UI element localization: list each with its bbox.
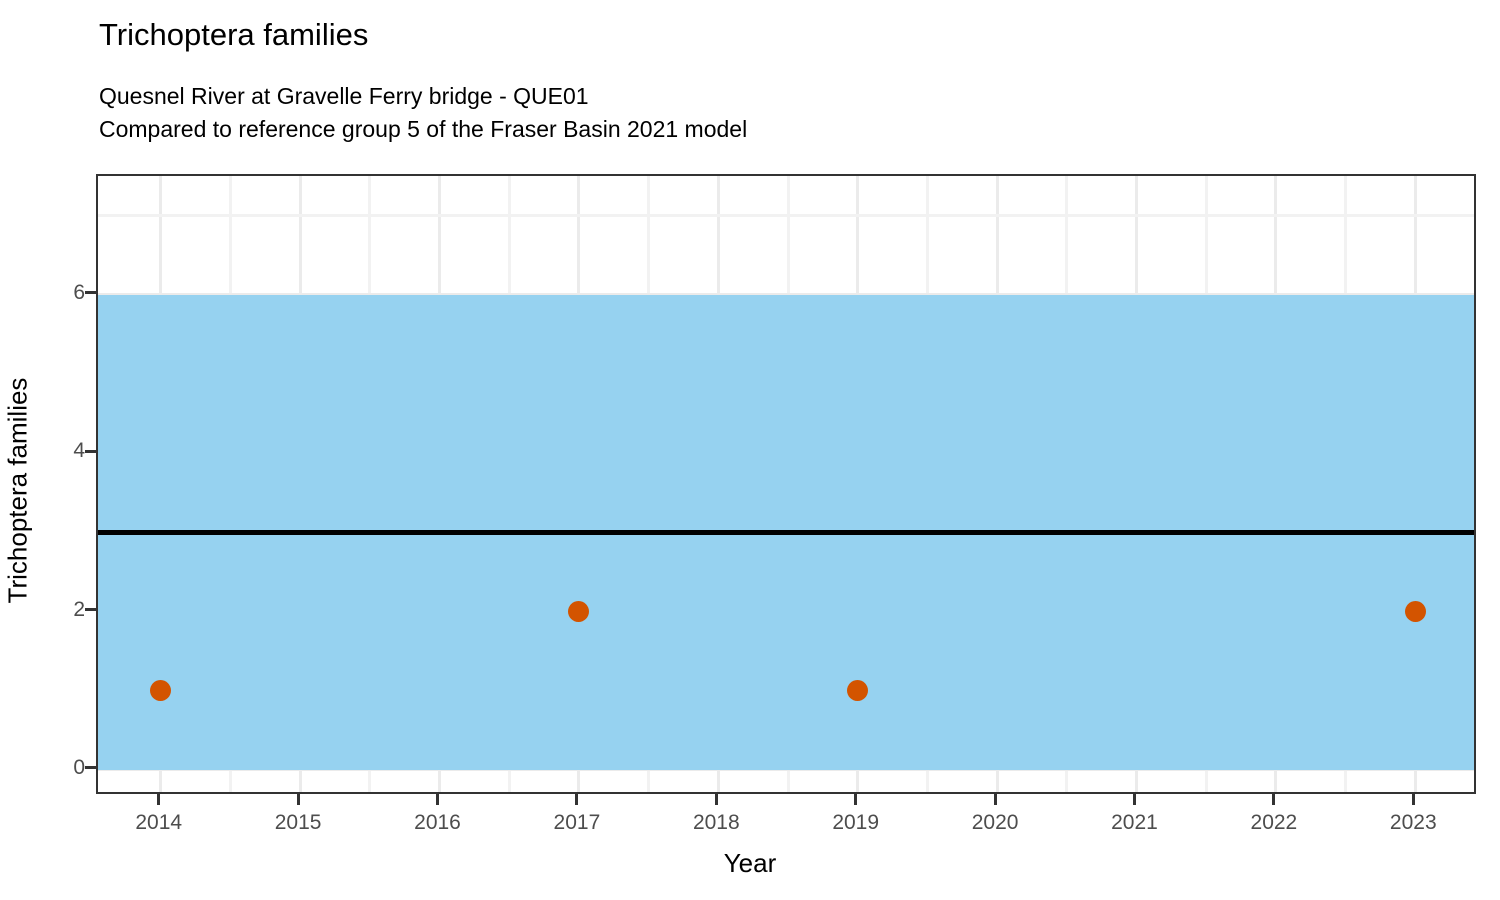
x-tick-mark — [994, 794, 997, 805]
x-tick-label: 2016 — [388, 812, 488, 833]
x-tick-mark — [297, 794, 300, 805]
chart-figure: Trichoptera families Quesnel River at Gr… — [0, 0, 1500, 900]
gridline-horizontal-minor — [98, 214, 1474, 217]
reference-line — [98, 530, 1474, 535]
y-tick-mark — [85, 608, 96, 611]
y-axis-title: Trichoptera families — [3, 181, 34, 801]
y-tick-label: 2 — [45, 599, 85, 620]
x-axis-title: Year — [0, 848, 1500, 879]
x-tick-label: 2023 — [1363, 812, 1463, 833]
x-tick-label: 2015 — [248, 812, 348, 833]
x-tick-mark — [854, 794, 857, 805]
x-tick-mark — [1272, 794, 1275, 805]
data-point[interactable] — [1405, 601, 1426, 622]
y-tick-label: 4 — [45, 440, 85, 461]
x-tick-mark — [575, 794, 578, 805]
plot-area — [98, 176, 1474, 792]
x-tick-label: 2022 — [1224, 812, 1324, 833]
y-tick-label: 0 — [45, 757, 85, 778]
chart-subtitle: Quesnel River at Gravelle Ferry bridge -… — [99, 80, 747, 147]
y-tick-mark — [85, 291, 96, 294]
plot-panel — [96, 174, 1476, 794]
x-tick-mark — [715, 794, 718, 805]
x-tick-label: 2014 — [109, 812, 209, 833]
y-tick-label: 6 — [45, 282, 85, 303]
x-tick-label: 2019 — [806, 812, 906, 833]
page-title: Trichoptera families — [99, 18, 368, 52]
x-tick-mark — [157, 794, 160, 805]
x-tick-mark — [1133, 794, 1136, 805]
x-tick-label: 2020 — [945, 812, 1045, 833]
x-tick-label: 2018 — [666, 812, 766, 833]
x-tick-label: 2021 — [1084, 812, 1184, 833]
y-tick-mark — [85, 450, 96, 453]
x-tick-label: 2017 — [527, 812, 627, 833]
x-tick-mark — [436, 794, 439, 805]
y-tick-mark — [85, 766, 96, 769]
x-tick-mark — [1412, 794, 1415, 805]
